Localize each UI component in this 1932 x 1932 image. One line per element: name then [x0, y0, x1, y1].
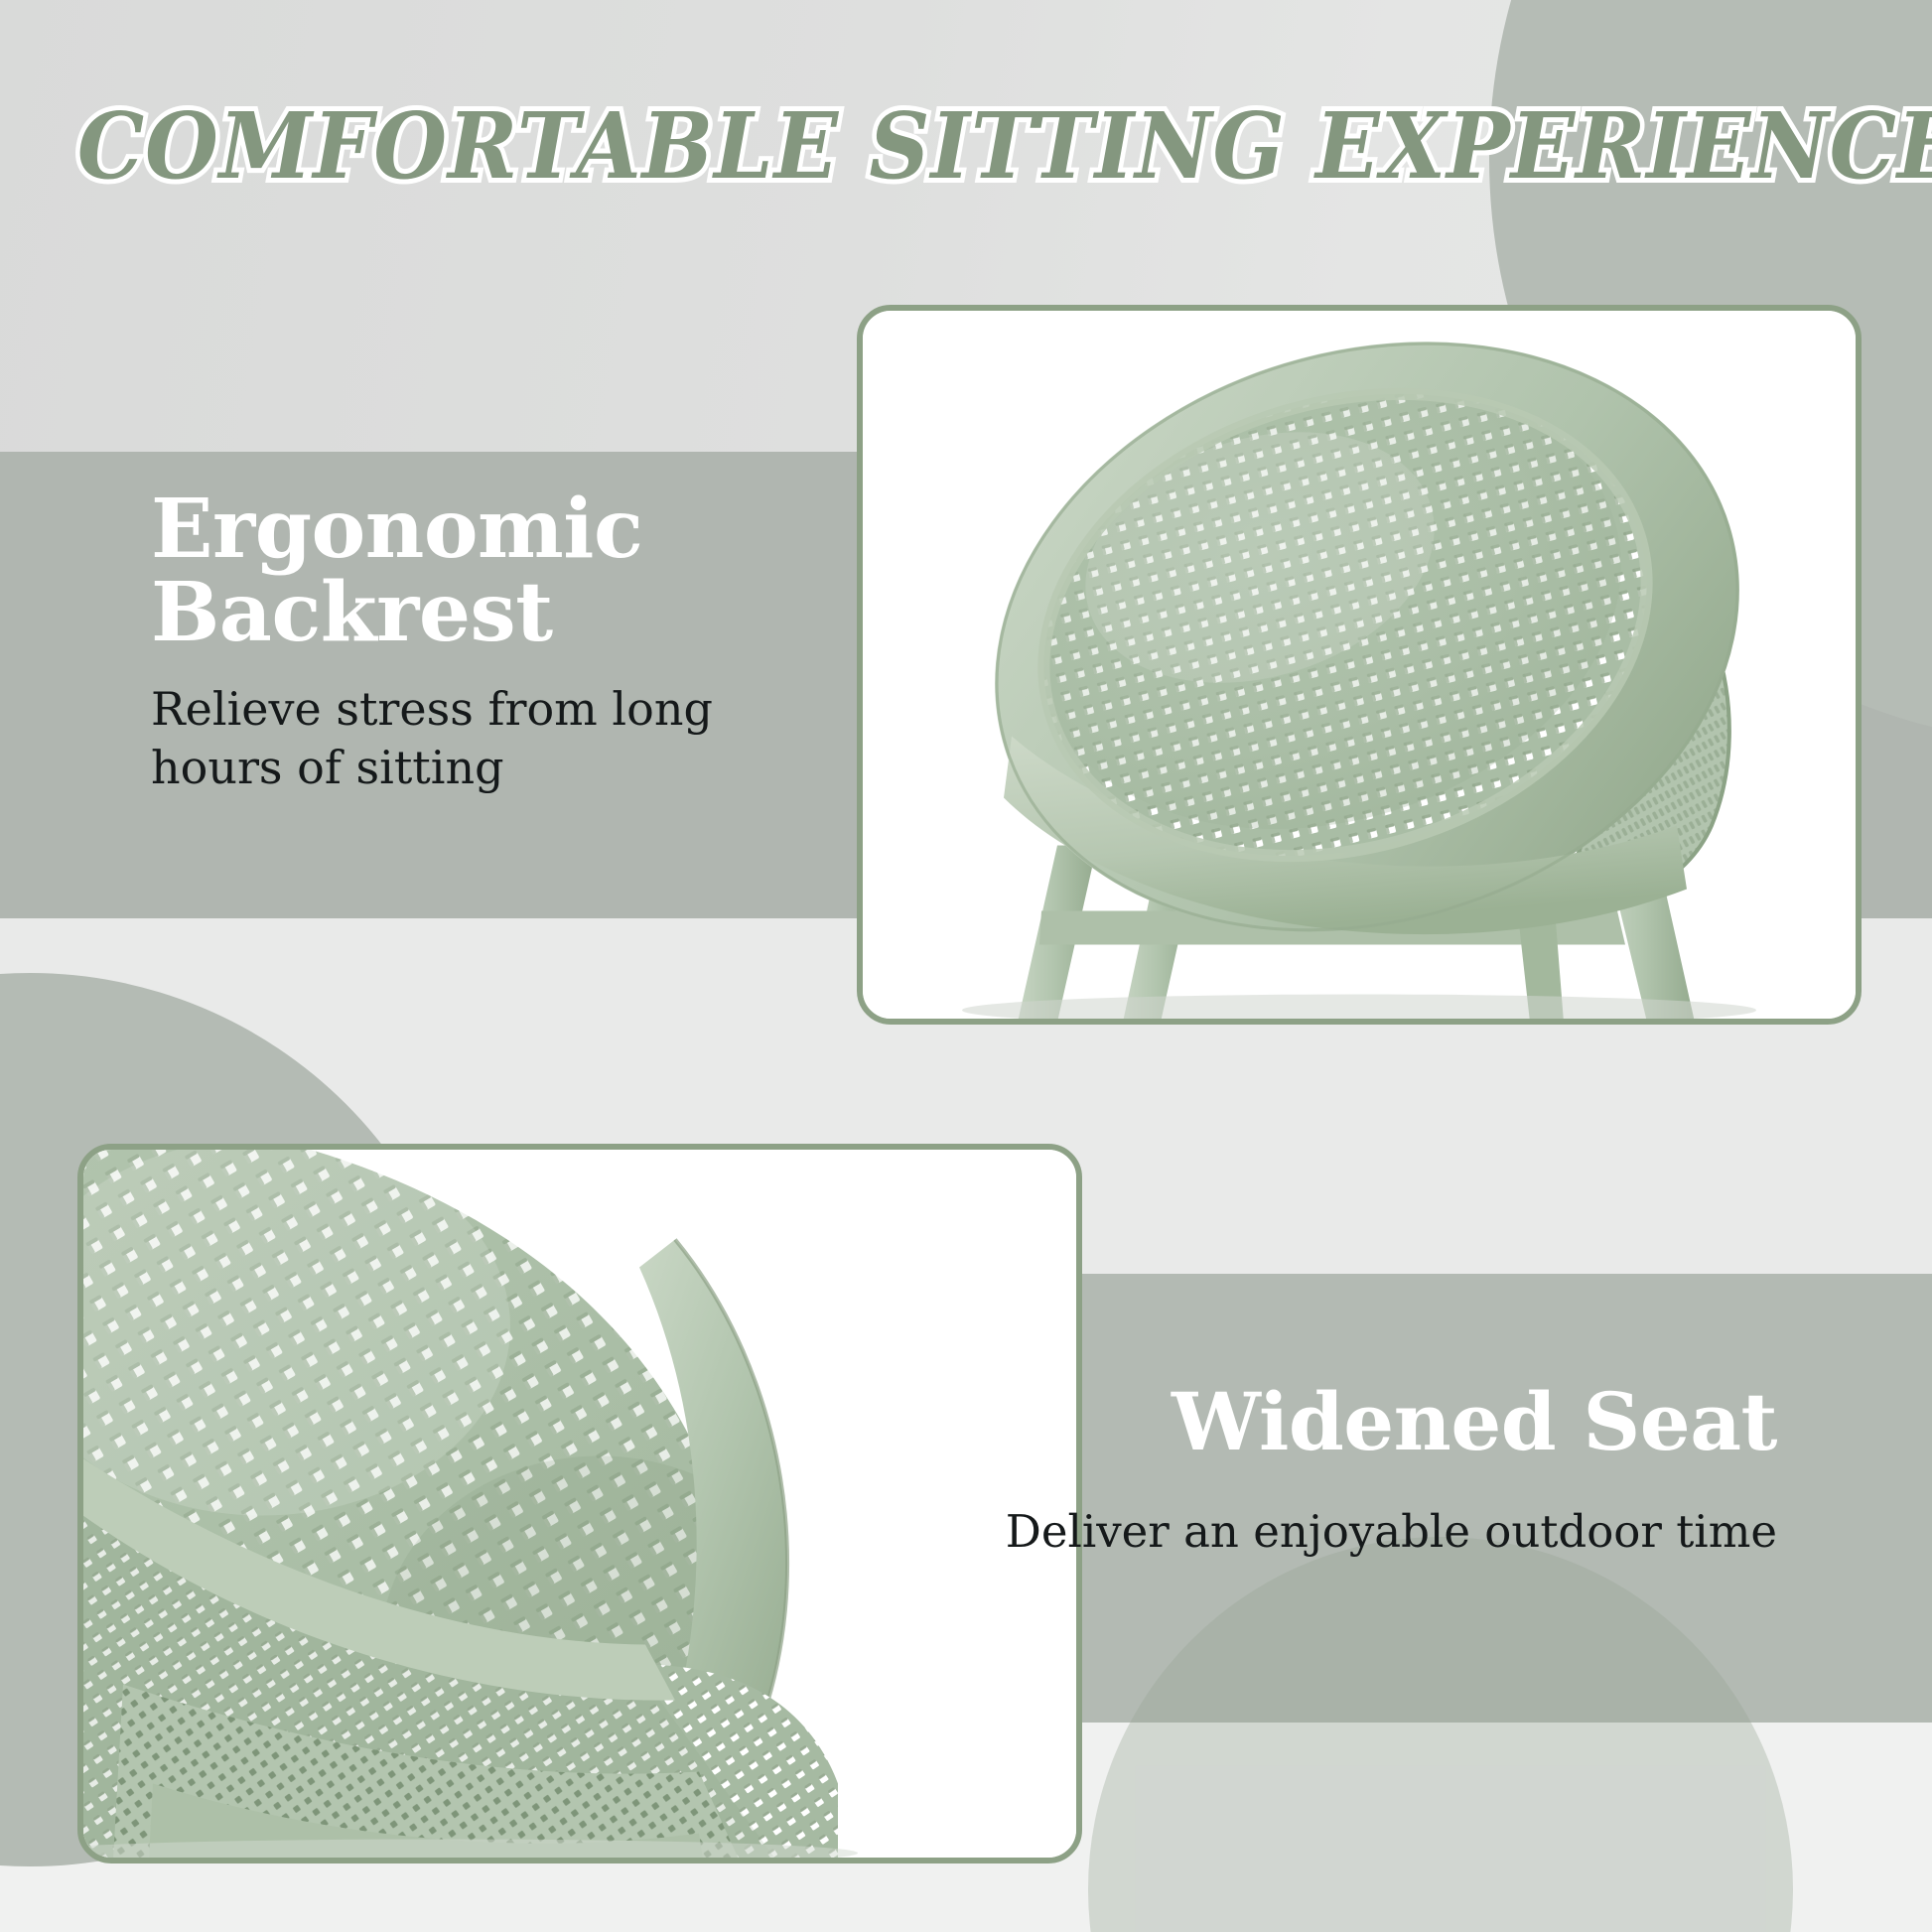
product-feature-poster: COMFORTABLE SITTING EXPERIENCE: [0, 0, 1932, 1932]
feature-description: Relieve stress from long hours of sittin…: [151, 680, 786, 797]
feature-text-ergonomic-backrest: Ergonomic Backrest Relieve stress from l…: [151, 488, 786, 797]
poster-headline: COMFORTABLE SITTING EXPERIENCE: [77, 94, 1855, 200]
feature-description: Deliver an enjoyable outdoor time: [894, 1503, 1777, 1561]
chair-back-view-illustration: [863, 311, 1856, 1019]
feature-title: Widened Seat: [894, 1382, 1777, 1463]
feature-text-widened-seat: Widened Seat Deliver an enjoyable outdoo…: [894, 1382, 1777, 1560]
feature-title: Ergonomic Backrest: [151, 488, 786, 654]
feature-image-card-ergonomic-backrest: [857, 305, 1862, 1025]
